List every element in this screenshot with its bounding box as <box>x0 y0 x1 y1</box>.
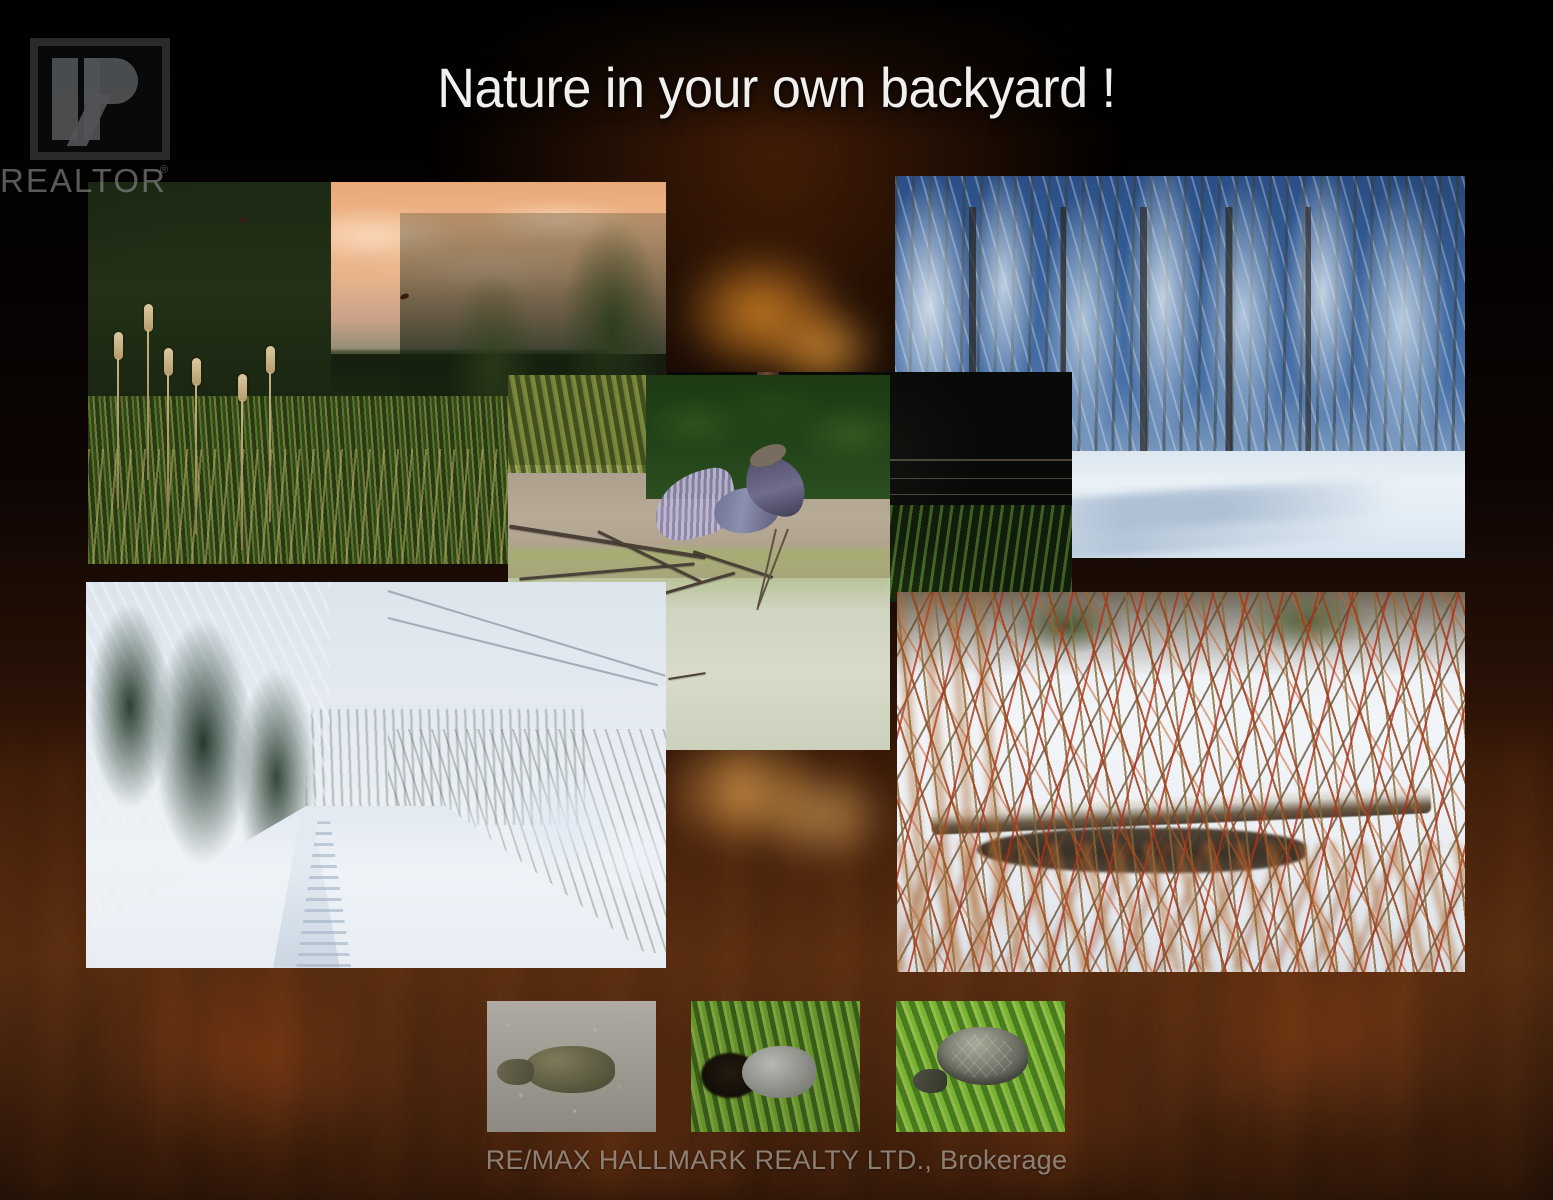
photo-painted-turtle-grass <box>896 1001 1065 1132</box>
photo-red-dogwood-creek-content <box>897 592 1465 972</box>
photo-turtle-nesting-grass <box>691 1001 860 1132</box>
photo-snowy-lane-content <box>86 582 666 968</box>
brokerage-footer: RE/MAX HALLMARK REALTY LTD., Brokerage <box>0 1147 1553 1174</box>
photo-turtle-nesting-grass-content <box>691 1001 860 1132</box>
photo-red-dogwood-creek <box>897 592 1465 972</box>
photo-snowy-lane <box>86 582 666 968</box>
photo-painted-turtle-grass-content <box>896 1001 1065 1132</box>
slide-title: Nature in your own backyard ! <box>54 60 1498 116</box>
photo-snapping-turtle-gravel <box>487 1001 656 1132</box>
photo-snapping-turtle-gravel-content <box>487 1001 656 1132</box>
slide-canvas: Nature in your own backyard ! REALTOR ® … <box>0 0 1553 1200</box>
